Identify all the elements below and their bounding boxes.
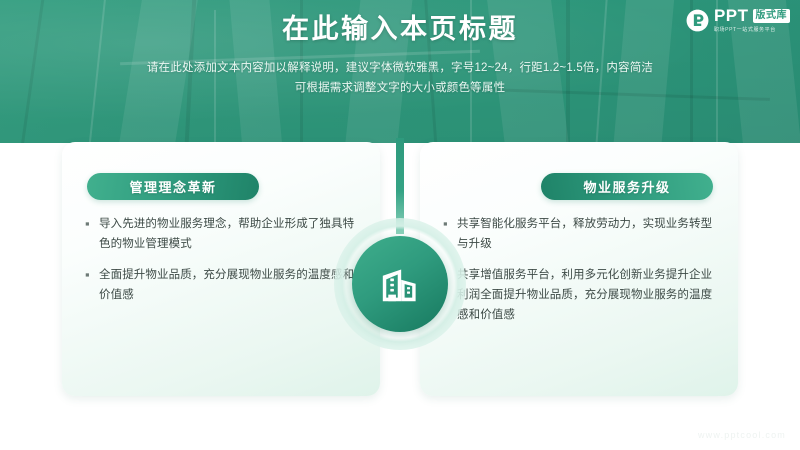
card-right-pill-label: 物业服务升级 bbox=[583, 177, 670, 196]
bullet-text: 共享增值服务平台，利用多元化创新业务提升企业利润全面提升物业品质，充分展现物业服… bbox=[457, 265, 718, 325]
subtitle-line-1: 请在此处添加文本内容加以解释说明，建议字体微软雅黑，字号12~24，行距1.2~… bbox=[0, 58, 800, 78]
list-item: ▪ 导入先进的物业服务理念，帮助企业形成了独具特色的物业管理模式 bbox=[85, 214, 360, 254]
card-left-pill-label: 管理理念革新 bbox=[129, 177, 216, 196]
brand-tagline: 职场PPT一站式服务平台 bbox=[714, 26, 776, 34]
card-left-bullets: ▪ 导入先进的物业服务理念，帮助企业形成了独具特色的物业管理模式 ▪ 全面提升物… bbox=[85, 214, 360, 316]
brand-badge: 版式库 bbox=[753, 9, 791, 23]
brand-primary-row: PPT 版式库 bbox=[714, 7, 790, 25]
brand-name: PPT bbox=[714, 7, 749, 25]
list-item: ▪ 共享增值服务平台，利用多元化创新业务提升企业利润全面提升物业品质，充分展现物… bbox=[443, 265, 718, 325]
bullet-text: 全面提升物业品质，充分展现物业服务的温度感和价值感 bbox=[99, 265, 360, 305]
list-item: ▪ 共享智能化服务平台，释放劳动力，实现业务转型与升级 bbox=[443, 214, 718, 254]
card-right-pill: 物业服务升级 bbox=[541, 173, 713, 200]
card-right-bullets: ▪ 共享智能化服务平台，释放劳动力，实现业务转型与升级 ▪ 共享增值服务平台，利… bbox=[443, 214, 718, 336]
bullet-marker-icon: ▪ bbox=[85, 214, 99, 254]
bullet-marker-icon: ▪ bbox=[85, 265, 99, 305]
card-left: 管理理念革新 ▪ 导入先进的物业服务理念，帮助企业形成了独具特色的物业管理模式 … bbox=[62, 142, 380, 396]
subtitle-line-2: 可根据需求调整文字的大小或颜色等属性 bbox=[0, 78, 800, 98]
slide-canvas: PPT 版式库 职场PPT一站式服务平台 在此输入本页标题 请在此处添加文本内容… bbox=[0, 0, 800, 450]
bullet-text: 共享智能化服务平台，释放劳动力，实现业务转型与升级 bbox=[457, 214, 718, 254]
title-block: 在此输入本页标题 请在此处添加文本内容加以解释说明，建议字体微软雅黑，字号12~… bbox=[0, 12, 800, 98]
page-title: 在此输入本页标题 bbox=[0, 12, 800, 46]
card-left-pill: 管理理念革新 bbox=[87, 173, 259, 200]
ppt-logo-p-mark-icon bbox=[686, 9, 709, 32]
office-buildings-icon bbox=[375, 259, 425, 309]
list-item: ▪ 全面提升物业品质，充分展现物业服务的温度感和价值感 bbox=[85, 265, 360, 305]
brand-logo[interactable]: PPT 版式库 职场PPT一站式服务平台 bbox=[686, 7, 790, 34]
bullet-text: 导入先进的物业服务理念，帮助企业形成了独具特色的物业管理模式 bbox=[99, 214, 360, 254]
brand-text-group: PPT 版式库 职场PPT一站式服务平台 bbox=[714, 7, 790, 34]
watermark: www.pptcool.com bbox=[698, 430, 786, 440]
card-right: 物业服务升级 ▪ 共享智能化服务平台，释放劳动力，实现业务转型与升级 ▪ 共享增… bbox=[420, 142, 738, 396]
center-medallion bbox=[352, 236, 448, 332]
